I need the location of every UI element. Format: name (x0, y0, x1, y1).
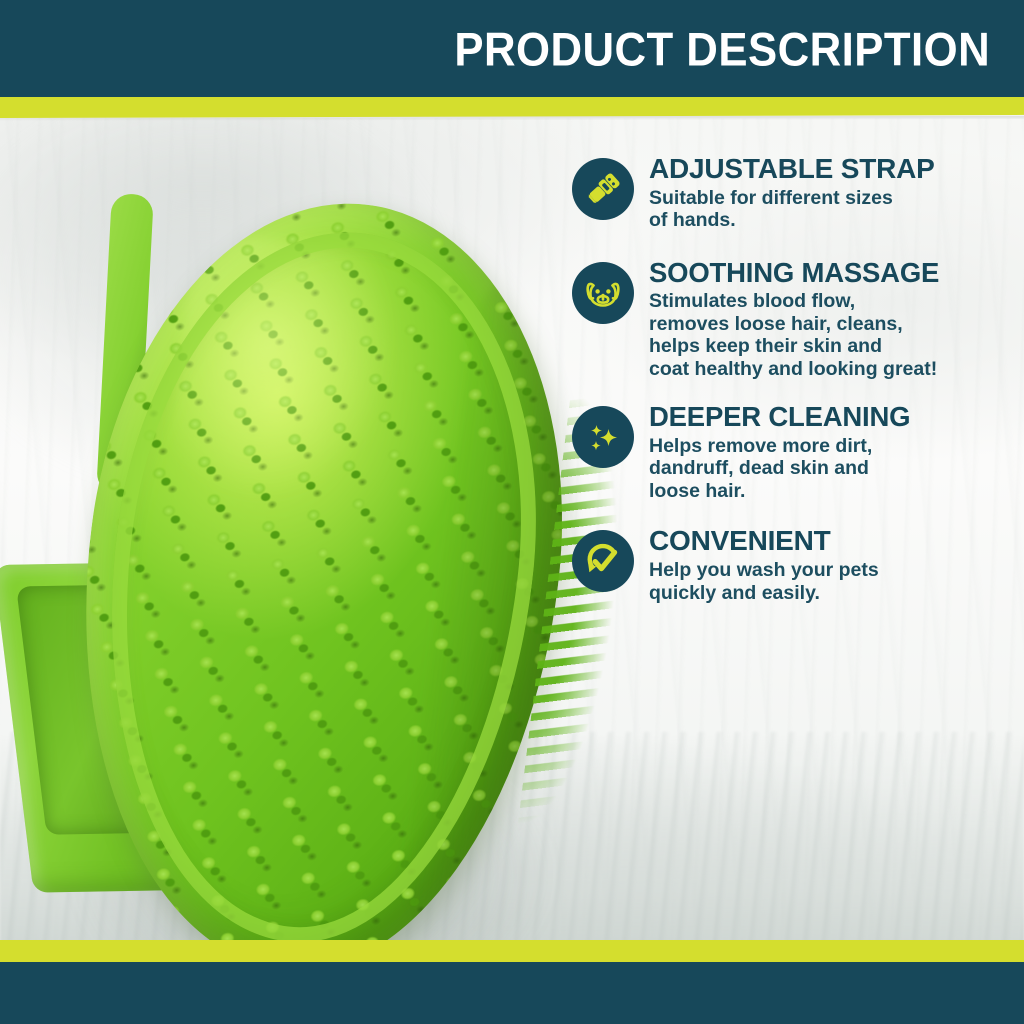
feature-title: CONVENIENT (649, 526, 879, 556)
feature-desc-line: loose hair. (649, 480, 910, 503)
feature-desc-line: removes loose hair, cleans, (649, 313, 939, 336)
check-circle-arrow-icon (572, 530, 634, 592)
feature-list: ADJUSTABLE STRAP Suitable for different … (572, 150, 1012, 604)
feature-description: Help you wash your pets quickly and easi… (649, 559, 879, 604)
footer-bar (0, 962, 1024, 1024)
accent-band-bottom (0, 940, 1024, 962)
feature-item-convenient: CONVENIENT Help you wash your pets quick… (572, 522, 1012, 604)
product-image (8, 184, 648, 962)
accent-band-top (0, 96, 1024, 118)
page-title-text: PRODUCT DESCRIPTION (454, 25, 990, 72)
feature-description: Suitable for different sizes of hands. (649, 187, 935, 232)
product-description-infographic: PRODUCT DESCRIPTION (0, 0, 1024, 1024)
feature-desc-line: Stimulates blood flow, (649, 290, 939, 313)
feature-item-adjustable-strap: ADJUSTABLE STRAP Suitable for different … (572, 150, 1012, 232)
feature-desc-line: dandruff, dead skin and (649, 457, 910, 480)
feature-title: ADJUSTABLE STRAP (649, 154, 935, 184)
feature-item-deeper-cleaning: DEEPER CLEANING Helps remove more dirt, … (572, 398, 1012, 502)
feature-title: DEEPER CLEANING (649, 402, 910, 431)
feature-desc-line: of hands. (649, 209, 935, 232)
feature-item-soothing-massage: SOOTHING MASSAGE Stimulates blood flow, … (572, 254, 1012, 381)
header-bar: PRODUCT DESCRIPTION (0, 0, 1024, 97)
sparkle-icon (572, 406, 634, 468)
feature-desc-line: helps keep their skin and (649, 335, 939, 358)
strap-buckle-icon (572, 158, 634, 220)
feature-description: Helps remove more dirt, dandruff, dead s… (649, 435, 910, 503)
feature-description: Stimulates blood flow, removes loose hai… (649, 290, 939, 380)
feature-text-deeper-cleaning: DEEPER CLEANING Helps remove more dirt, … (649, 398, 910, 502)
feature-desc-line: quickly and easily. (649, 582, 879, 605)
feature-desc-line: Suitable for different sizes (649, 187, 935, 210)
dog-face-icon (572, 262, 634, 324)
feature-desc-line: Help you wash your pets (649, 559, 879, 582)
feature-text-convenient: CONVENIENT Help you wash your pets quick… (649, 522, 879, 604)
feature-text-adjustable-strap: ADJUSTABLE STRAP Suitable for different … (649, 150, 935, 232)
feature-title: SOOTHING MASSAGE (649, 258, 939, 287)
feature-desc-line: Helps remove more dirt, (649, 435, 910, 458)
feature-text-soothing-massage: SOOTHING MASSAGE Stimulates blood flow, … (649, 254, 939, 381)
feature-desc-line: coat healthy and looking great! (649, 358, 939, 381)
